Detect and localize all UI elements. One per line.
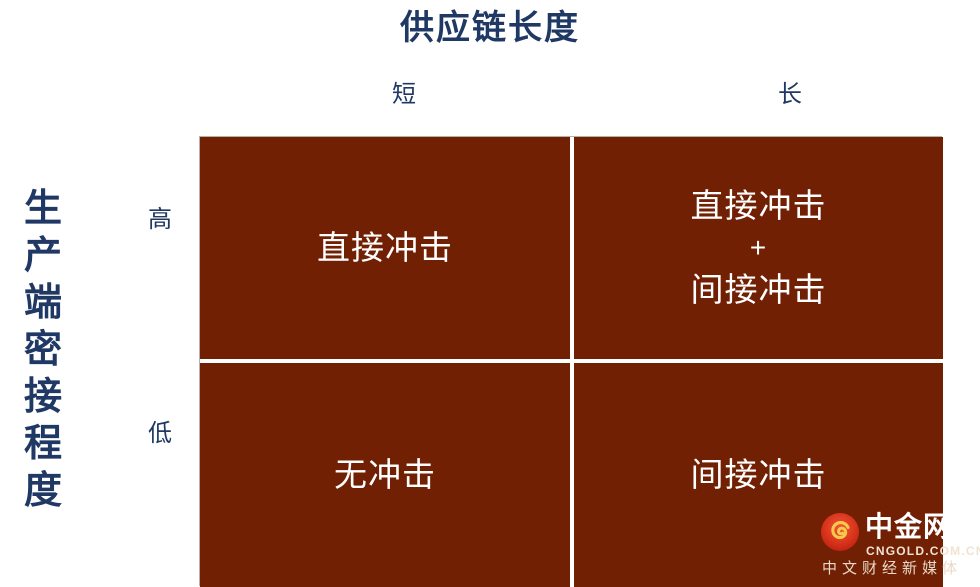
quadrant-cell-high-long-plus: + bbox=[750, 228, 767, 268]
watermark-brand: 中金网 bbox=[865, 510, 952, 544]
quadrant-cell-low-long-label: 间接冲击 bbox=[691, 453, 827, 497]
row-label-high: 高 bbox=[120, 203, 200, 237]
quadrant-cell-high-short-label: 直接冲击 bbox=[317, 226, 453, 270]
watermark-tagline: 中文财经新媒体 bbox=[822, 559, 962, 579]
quadrant-cell-low-short-label: 无冲击 bbox=[334, 453, 436, 497]
quadrant-cell-high-long: 直接冲击 + 间接冲击 bbox=[574, 137, 943, 359]
y-axis-title: 生产端密接程度 bbox=[14, 186, 72, 515]
quadrant-cell-high-long-label-1: 直接冲击 bbox=[691, 184, 827, 228]
chart-title: 供应链长度 bbox=[0, 6, 980, 50]
column-label-short: 短 bbox=[344, 78, 464, 112]
quadrant-cell-low-short: 无冲击 bbox=[200, 363, 570, 587]
watermark: 中金网 CNGOLD.COM.CN 中文财经新媒体 bbox=[818, 506, 980, 586]
row-label-low: 低 bbox=[120, 417, 200, 451]
swirl-logo-icon bbox=[820, 512, 860, 552]
column-label-long: 长 bbox=[730, 78, 850, 112]
watermark-domain: CNGOLD.COM.CN bbox=[866, 544, 980, 558]
quadrant-cell-high-long-label-2: 间接冲击 bbox=[691, 268, 827, 312]
quadrant-cell-high-short: 直接冲击 bbox=[200, 137, 570, 359]
